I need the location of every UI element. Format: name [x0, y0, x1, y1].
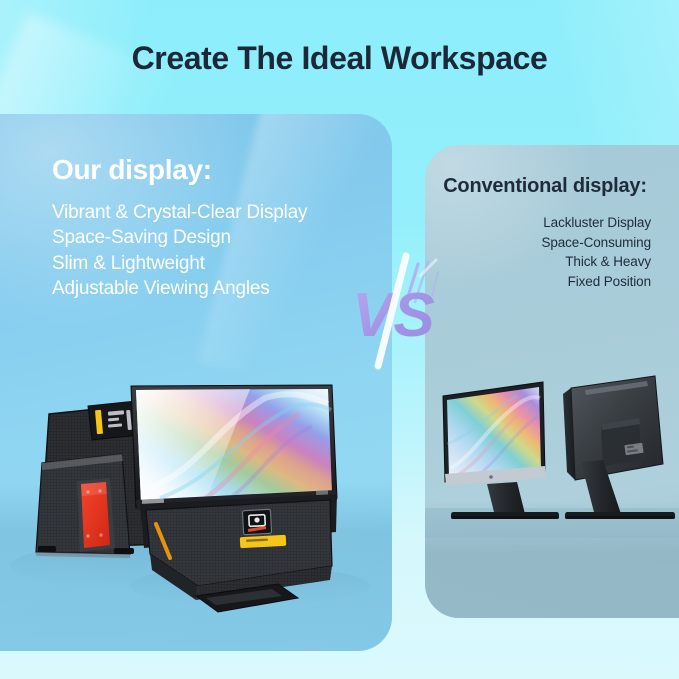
list-item: Fixed Position [425, 272, 651, 292]
our-display-copy: Our display: Vibrant & Crystal-Clear Dis… [52, 154, 307, 302]
portable-monitor-product-image [0, 318, 392, 618]
list-item: Lackluster Display [425, 213, 651, 233]
versus-badge: VS [348, 262, 452, 362]
list-item: Slim & Lightweight [52, 251, 307, 276]
conventional-monitor-product-image [425, 368, 679, 538]
conventional-monitor-rear [563, 376, 675, 519]
list-item: Adjustable Viewing Angles [52, 276, 307, 301]
our-display-heading: Our display: [52, 154, 307, 186]
list-item: Thick & Heavy [425, 252, 651, 272]
our-display-feature-list: Vibrant & Crystal-Clear Display Space-Sa… [52, 200, 307, 302]
infographic-canvas: Create The Ideal Workspace Our display: … [0, 0, 679, 679]
conventional-display-heading: Conventional display: [425, 175, 651, 198]
list-item: Space-Consuming [425, 233, 651, 253]
list-item: Vibrant & Crystal-Clear Display [52, 200, 307, 225]
conventional-display-copy: Conventional display: Lackluster Display… [425, 175, 651, 292]
red-accessory-mount [77, 478, 115, 552]
conventional-display-feature-list: Lackluster Display Space-Consuming Thick… [425, 213, 651, 292]
base-center-badge [242, 509, 271, 534]
page-title: Create The Ideal Workspace [0, 40, 679, 77]
list-item: Space-Saving Design [52, 225, 307, 250]
conventional-monitor-front [443, 382, 559, 519]
